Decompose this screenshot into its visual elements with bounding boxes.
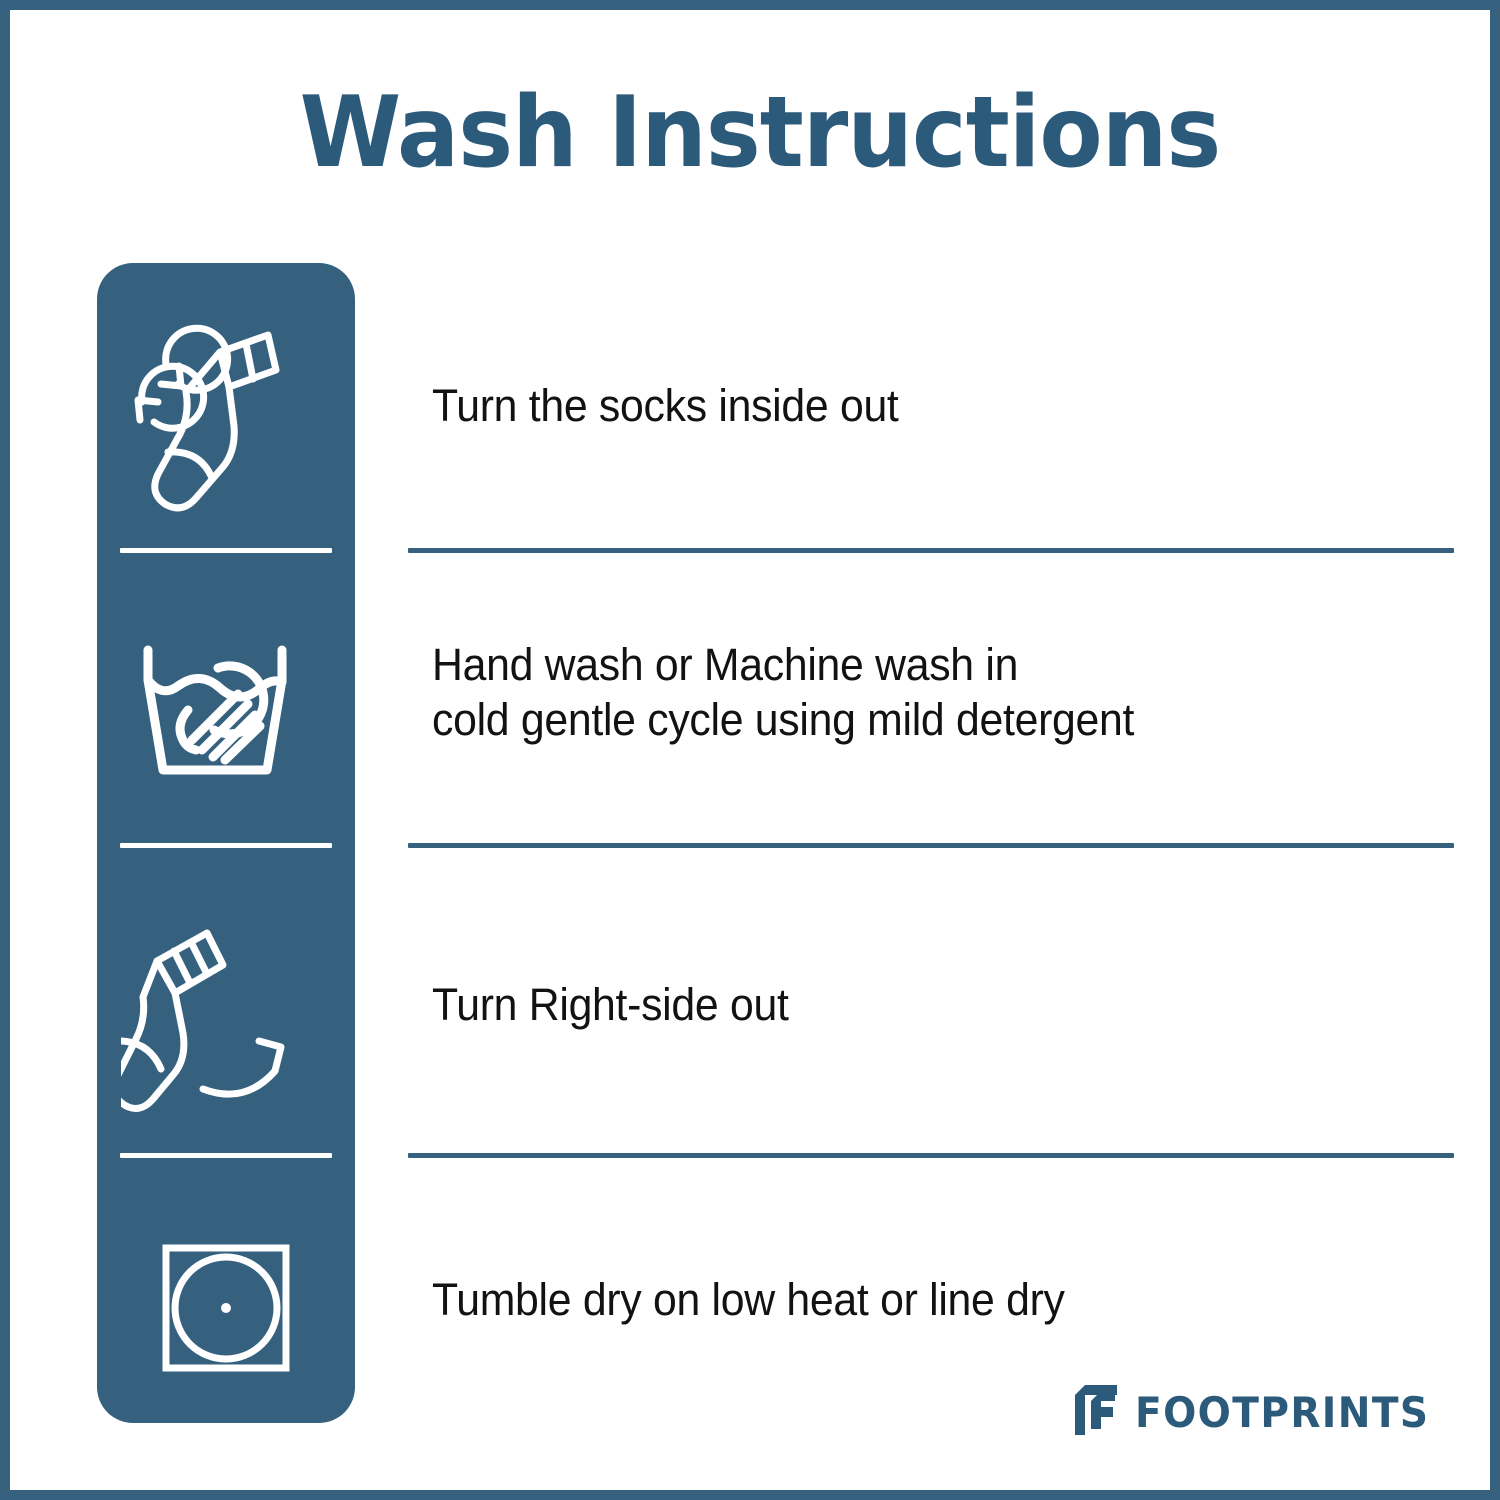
row-divider [408, 843, 1454, 848]
instruction-line: Tumble dry on low heat or line dry [432, 1273, 1420, 1328]
tumble-dry-low-icon [97, 1193, 355, 1423]
instruction-line: Hand wash or Machine wash in [432, 638, 1420, 693]
sock-right-side-out-icon [97, 883, 355, 1143]
row-divider [408, 1153, 1454, 1158]
panel-divider [120, 843, 332, 848]
hand-wash-basin-icon [97, 588, 355, 838]
instruction-text: Turn the socks inside out [432, 379, 1420, 434]
instruction-row: Hand wash or Machine wash in cold gentle… [10, 588, 1490, 838]
panel-divider [120, 1153, 332, 1158]
instruction-text: Tumble dry on low heat or line dry [432, 1273, 1420, 1328]
socks-inside-out-icon [97, 293, 355, 543]
panel-divider [120, 548, 332, 553]
instruction-line: Turn Right-side out [432, 978, 1420, 1033]
brand-wordmark: FOOTPRINTS [1135, 1392, 1429, 1434]
row-divider [408, 548, 1454, 553]
instruction-text: Hand wash or Machine wash in cold gentle… [432, 638, 1420, 748]
instruction-row: Turn the socks inside out [10, 293, 1490, 543]
page-title: Wash Instructions [55, 82, 1465, 185]
instruction-line: Turn the socks inside out [432, 379, 1420, 434]
wash-instructions-card: Wash Instructions Turn the socks inside … [0, 0, 1500, 1500]
brand-logo: FOOTPRINTS [1073, 1385, 1452, 1440]
instruction-text: Turn Right-side out [432, 978, 1420, 1033]
instruction-line: cold gentle cycle using mild detergent [432, 693, 1420, 748]
footprints-f-monogram-icon [1073, 1385, 1119, 1440]
instruction-row: Turn Right-side out [10, 883, 1490, 1143]
